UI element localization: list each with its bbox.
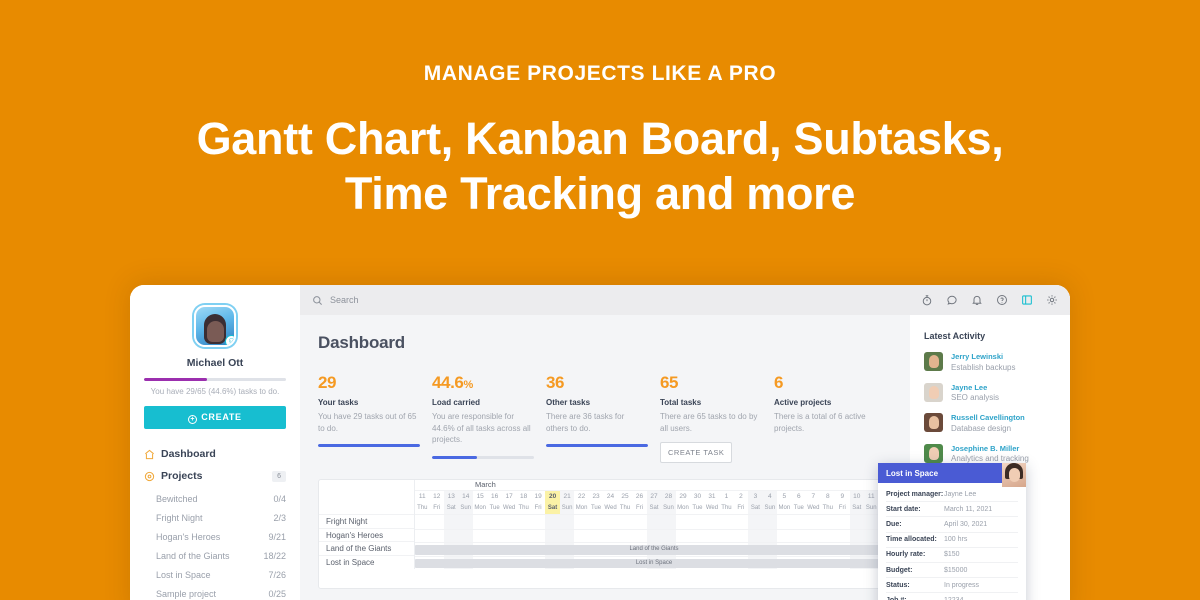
- gantt-day-number: 15: [473, 491, 487, 502]
- gantt-cell: [415, 530, 429, 543]
- stat-card-your-tasks: 29 Your tasks You have 29 tasks out of 6…: [318, 373, 432, 463]
- gantt-cell: [719, 515, 733, 529]
- gantt-row-label[interactable]: Fright Night: [319, 514, 414, 528]
- popup-header: Lost in Space: [878, 463, 1026, 483]
- gantt-cell: [603, 515, 617, 529]
- plus-icon: +: [188, 415, 197, 424]
- gantt-cell: [734, 515, 748, 529]
- center-column: Dashboard 29 Your tasks You have 29 task…: [300, 315, 910, 600]
- gantt-month-label: March: [475, 480, 496, 489]
- gantt-cell: [574, 515, 588, 529]
- gantt-cell: [632, 530, 646, 543]
- gantt-row[interactable]: [415, 529, 893, 543]
- gantt-cell: [835, 530, 849, 543]
- gantt-day-name: Sun: [864, 502, 878, 514]
- gantt-day-name: Sun: [458, 502, 472, 514]
- gantt-cell: [850, 530, 864, 543]
- gantt-cell: [473, 515, 487, 529]
- stopwatch-icon[interactable]: [921, 294, 933, 306]
- gantt-day-number: 18: [516, 491, 530, 502]
- search-input[interactable]: Search: [312, 295, 359, 306]
- project-ratio: 7/26: [268, 570, 286, 580]
- gantt-cell: [589, 515, 603, 529]
- activity-text: Russell CavellingtonDatabase design: [951, 413, 1025, 433]
- gantt-cell: [603, 530, 617, 543]
- stat-desc: There are 36 tasks for others to do.: [546, 411, 648, 434]
- gantt-day-number: 31: [705, 491, 719, 502]
- stat-label: Total tasks: [660, 398, 762, 407]
- stat-label: Active projects: [774, 398, 876, 407]
- gantt-day-number: 20: [545, 491, 559, 502]
- sidebar: ☺ Michael Ott You have 29/65 (44.6%) tas…: [130, 285, 300, 600]
- stat-number: 29: [318, 373, 336, 392]
- avatar: [924, 383, 943, 402]
- topbar: Search: [300, 285, 1070, 315]
- gantt-day-number: 7: [806, 491, 820, 502]
- gantt-cell: [734, 530, 748, 543]
- gantt-cell: [531, 530, 545, 543]
- create-task-button[interactable]: CREATE TASK: [660, 442, 732, 463]
- gantt-day-number: 28: [661, 491, 675, 502]
- stat-value: 65: [660, 373, 762, 393]
- activity-user-name[interactable]: Josephine B. Miller: [951, 444, 1029, 453]
- list-item[interactable]: Sample project0/25: [144, 584, 286, 600]
- gantt-day-number: 21: [560, 491, 574, 502]
- avatar-head: [929, 416, 939, 429]
- list-item[interactable]: Bewitched0/4: [144, 489, 286, 508]
- gantt-cell: [777, 515, 791, 529]
- create-button-label: CREATE: [201, 412, 242, 422]
- bell-icon[interactable]: [971, 294, 983, 306]
- gantt-day-name: Thu: [821, 502, 835, 514]
- gantt-cell: [458, 515, 472, 529]
- activity-user-name[interactable]: Jayne Lee: [951, 383, 999, 392]
- detail-key: Project manager:: [886, 491, 944, 498]
- gantt-cell: [821, 515, 835, 529]
- gantt-bar-rows: Land of the GiantsLost in Space: [415, 514, 893, 569]
- avatar: [924, 352, 943, 371]
- popup-detail-rows: Project manager:Jayne Lee Start date:Mar…: [878, 483, 1026, 600]
- gantt-cell: [850, 515, 864, 529]
- gantt-day-number: 1: [719, 491, 733, 502]
- tasks-progress-fill: [144, 378, 207, 381]
- gantt-day-name: Tue: [589, 502, 603, 514]
- gantt-day-name: Sat: [444, 502, 458, 514]
- activity-item[interactable]: Russell CavellingtonDatabase design: [924, 413, 1056, 433]
- project-name: Sample project: [156, 589, 216, 599]
- gantt-cell: [473, 530, 487, 543]
- avatar-face: [204, 314, 226, 344]
- stat-progress-bar: [546, 444, 648, 447]
- gantt-timeline[interactable]: March 1112131415161718192021222324252627…: [415, 480, 893, 569]
- stat-progress-fill: [546, 444, 648, 447]
- projects-count-badge: 6: [272, 471, 286, 482]
- avatar-head: [929, 386, 939, 399]
- popup-title: Lost in Space: [886, 469, 938, 478]
- table-row: Start date:March 11, 2021: [886, 502, 1018, 517]
- gantt-row[interactable]: [415, 515, 893, 529]
- detail-value: $15000: [944, 567, 967, 574]
- gantt-day-name: Wed: [502, 502, 516, 514]
- gantt-cell: [429, 515, 443, 529]
- gantt-cell: [647, 530, 661, 543]
- sidebar-nav: Dashboard Projects 6 Bewitched0/4 Fright…: [144, 443, 286, 600]
- activity-text: Josephine B. MillerAnalytics and trackin…: [951, 444, 1029, 464]
- avatar-head: [929, 355, 939, 368]
- hero-title-line-2: Time Tracking and more: [0, 167, 1200, 222]
- gantt-day-number: 30: [690, 491, 704, 502]
- gantt-cell: [647, 515, 661, 529]
- projects-icon: [144, 471, 155, 482]
- stat-value: 36: [546, 373, 648, 393]
- gantt-cell: [458, 530, 472, 543]
- project-list: Bewitched0/4 Fright Night2/3 Hogan's Her…: [144, 489, 286, 600]
- gantt-day-name: Sat: [647, 502, 661, 514]
- gantt-day-name: Fri: [429, 502, 443, 514]
- gantt-day-name: Sun: [763, 502, 777, 514]
- sidebar-item-dashboard[interactable]: Dashboard: [144, 443, 286, 465]
- gantt-row-label[interactable]: Lost in Space: [319, 555, 414, 569]
- stat-card-active-projects: 6 Active projects There is a total of 6 …: [774, 373, 888, 463]
- gantt-day-number: 10: [850, 491, 864, 502]
- gantt-day-number: 4: [763, 491, 777, 502]
- gantt-day-name: Thu: [719, 502, 733, 514]
- gantt-day-number: 11: [864, 491, 878, 502]
- gantt-cell: [748, 530, 762, 543]
- stat-card-load-carried: 44.6% Load carried You are responsible f…: [432, 373, 546, 463]
- hero-title: Gantt Chart, Kanban Board, Subtasks, Tim…: [0, 112, 1200, 222]
- gantt-cell: [531, 515, 545, 529]
- gantt-cell: [589, 530, 603, 543]
- gantt-cell: [415, 515, 429, 529]
- gantt-cell: [821, 530, 835, 543]
- stat-suffix: %: [464, 379, 473, 391]
- stat-progress-fill: [432, 456, 477, 459]
- popup-avatar: [1002, 463, 1026, 487]
- stat-number: 65: [660, 373, 678, 392]
- project-ratio: 0/4: [273, 494, 286, 504]
- tasks-progress-note: You have 29/65 (44.6%) tasks to do.: [144, 387, 286, 396]
- gantt-day-number: 11: [415, 491, 429, 502]
- activity-user-name[interactable]: Russell Cavellington: [951, 413, 1025, 422]
- stat-value: 29: [318, 373, 420, 393]
- detail-value: 100 hrs: [944, 536, 967, 543]
- table-row: Status:In progress: [886, 578, 1018, 593]
- main-area: Search Dashboard 29 Your tasks You: [300, 285, 1070, 600]
- gantt-day-number: 9: [835, 491, 849, 502]
- search-icon: [312, 295, 323, 306]
- gantt-day-name: Sat: [850, 502, 864, 514]
- gantt-day-number: 22: [574, 491, 588, 502]
- project-name: Hogan's Heroes: [156, 532, 220, 542]
- stat-progress-bar: [432, 456, 534, 459]
- gantt-day-number: 8: [821, 491, 835, 502]
- gantt-day-name: Fri: [835, 502, 849, 514]
- detail-key: Time allocated:: [886, 536, 944, 543]
- gantt-day-name: Fri: [531, 502, 545, 514]
- gantt-day-name: Fri: [734, 502, 748, 514]
- gantt-day-number: 16: [487, 491, 501, 502]
- content-area: Dashboard 29 Your tasks You have 29 task…: [300, 315, 1070, 600]
- gantt-day-number: 25: [618, 491, 632, 502]
- stat-desc: There is a total of 6 active projects.: [774, 411, 876, 434]
- stat-label: Load carried: [432, 398, 534, 407]
- gantt-day-number: 19: [531, 491, 545, 502]
- gantt-inner: Fright Night Hogan's Heroes Land of the …: [319, 480, 893, 569]
- gantt-day-number: 23: [589, 491, 603, 502]
- gantt-day-number: 17: [502, 491, 516, 502]
- tasks-progress-bar: [144, 378, 286, 381]
- stat-label: Other tasks: [546, 398, 648, 407]
- gantt-day-number: 14: [458, 491, 472, 502]
- stat-value: 44.6%: [432, 373, 534, 393]
- app-window: ☺ Michael Ott You have 29/65 (44.6%) tas…: [130, 285, 1070, 600]
- gantt-month-row: March: [415, 480, 893, 491]
- project-name: Bewitched: [156, 494, 198, 504]
- gantt-row-label[interactable]: Hogan's Heroes: [319, 528, 414, 542]
- gantt-cell: [632, 515, 646, 529]
- gantt-cell: [690, 530, 704, 543]
- gantt-day-name: Wed: [603, 502, 617, 514]
- gantt-task-bar[interactable]: Land of the Giants: [415, 545, 893, 555]
- gantt-day-name: Sun: [661, 502, 675, 514]
- gantt-chart[interactable]: Fright Night Hogan's Heroes Land of the …: [318, 479, 894, 589]
- detail-value: $150: [944, 551, 960, 558]
- detail-value: Jayne Lee: [944, 491, 976, 498]
- gantt-cell: [792, 515, 806, 529]
- activity-task-name: Database design: [951, 424, 1025, 433]
- gantt-day-name: Sat: [545, 502, 559, 514]
- gantt-row-label[interactable]: Land of the Giants: [319, 541, 414, 555]
- activity-task-name: Establish backups: [951, 363, 1015, 372]
- gantt-day-name: Mon: [473, 502, 487, 514]
- gantt-day-number: 3: [748, 491, 762, 502]
- gantt-cell: [661, 530, 675, 543]
- list-item[interactable]: Land of the Giants18/22: [144, 546, 286, 565]
- stat-desc: You have 29 tasks out of 65 to do.: [318, 411, 420, 434]
- gantt-cell: [661, 515, 675, 529]
- gantt-day-name: Wed: [806, 502, 820, 514]
- stat-value: 6: [774, 373, 876, 393]
- gantt-cell: [574, 530, 588, 543]
- stat-card-other-tasks: 36 Other tasks There are 36 tasks for ot…: [546, 373, 660, 463]
- list-item[interactable]: Lost in Space7/26: [144, 565, 286, 584]
- gantt-day-numbers: 1112131415161718192021222324252627282930…: [415, 491, 893, 502]
- gantt-cell: [719, 530, 733, 543]
- project-ratio: 0/25: [268, 589, 286, 599]
- gantt-cell: [516, 515, 530, 529]
- gantt-cell: [676, 515, 690, 529]
- gantt-cell: [806, 515, 820, 529]
- hero-kicker: MANAGE PROJECTS LIKE A PRO: [0, 62, 1200, 86]
- gantt-day-number: 26: [632, 491, 646, 502]
- gantt-day-number: 6: [792, 491, 806, 502]
- activity-title: Latest Activity: [924, 331, 1056, 341]
- detail-key: Budget:: [886, 567, 944, 574]
- gantt-day-name: Mon: [676, 502, 690, 514]
- chat-icon[interactable]: [946, 294, 958, 306]
- gantt-cell: [705, 515, 719, 529]
- detail-value: In progress: [944, 582, 979, 589]
- gantt-cell: [429, 530, 443, 543]
- stat-progress-fill: [318, 444, 420, 447]
- detail-key: Hourly rate:: [886, 551, 944, 558]
- detail-key: Due:: [886, 521, 944, 528]
- gantt-cell: [748, 515, 762, 529]
- table-row: Hourly rate:$150: [886, 548, 1018, 563]
- help-icon[interactable]: [996, 294, 1008, 306]
- stat-desc: You are responsible for 44.6% of all tas…: [432, 411, 534, 446]
- project-ratio: 18/22: [263, 551, 286, 561]
- user-name: Michael Ott: [144, 357, 286, 369]
- gantt-cell: [792, 530, 806, 543]
- list-item[interactable]: Hogan's Heroes9/21: [144, 527, 286, 546]
- search-placeholder: Search: [330, 295, 359, 305]
- project-name: Fright Night: [156, 513, 203, 523]
- gantt-day-number: 24: [603, 491, 617, 502]
- gantt-day-name: Tue: [487, 502, 501, 514]
- stats-row: 29 Your tasks You have 29 tasks out of 6…: [318, 373, 894, 463]
- gear-icon[interactable]: [1046, 294, 1058, 306]
- gantt-cell: [560, 530, 574, 543]
- gantt-cell: [705, 530, 719, 543]
- detail-key: Status:: [886, 582, 944, 589]
- gantt-day-number: 2: [734, 491, 748, 502]
- stat-number: 44.6: [432, 373, 464, 392]
- gantt-day-number: 29: [676, 491, 690, 502]
- gantt-cell: [444, 530, 458, 543]
- detail-key: Start date:: [886, 506, 944, 513]
- gantt-day-name: Thu: [516, 502, 530, 514]
- stat-label: Your tasks: [318, 398, 420, 407]
- project-detail-popup[interactable]: Lost in Space Project manager:Jayne Lee …: [878, 463, 1026, 600]
- stat-progress-bar: [318, 444, 420, 447]
- list-item[interactable]: Fright Night2/3: [144, 508, 286, 527]
- activity-text: Jayne LeeSEO analysis: [951, 383, 999, 403]
- stat-card-total-tasks: 65 Total tasks There are 65 tasks to do …: [660, 373, 774, 463]
- gantt-day-number: 13: [444, 491, 458, 502]
- gantt-cell: [763, 515, 777, 529]
- home-icon: [144, 449, 155, 460]
- create-button[interactable]: +CREATE: [144, 406, 286, 429]
- status-online-icon: ☺: [225, 335, 236, 347]
- gantt-row[interactable]: Lost in Space: [415, 556, 893, 570]
- gantt-day-name: Mon: [777, 502, 791, 514]
- gantt-cell: [763, 530, 777, 543]
- activity-text: Jerry LewinskiEstablish backups: [951, 352, 1015, 372]
- gantt-task-bar[interactable]: Lost in Space: [415, 559, 893, 569]
- gantt-cell: [806, 530, 820, 543]
- detail-value: April 30, 2021: [944, 521, 987, 528]
- gantt-cell: [502, 530, 516, 543]
- gantt-cell: [487, 515, 501, 529]
- gantt-day-name: Mon: [574, 502, 588, 514]
- gantt-day-name: Thu: [618, 502, 632, 514]
- stat-number: 6: [774, 373, 783, 392]
- gantt-row-labels: Fright Night Hogan's Heroes Land of the …: [319, 480, 415, 569]
- stat-number: 36: [546, 373, 564, 392]
- gantt-day-name: Sat: [748, 502, 762, 514]
- gantt-day-names: ThuFriSatSunMonTueWedThuFriSatSunMonTueW…: [415, 502, 893, 514]
- gantt-cell: [864, 515, 878, 529]
- hero-title-line-1: Gantt Chart, Kanban Board, Subtasks,: [0, 112, 1200, 167]
- project-name: Lost in Space: [156, 570, 211, 580]
- activity-item[interactable]: Jerry LewinskiEstablish backups: [924, 352, 1056, 372]
- activity-item[interactable]: Josephine B. MillerAnalytics and trackin…: [924, 444, 1056, 464]
- gantt-day-name: Fri: [632, 502, 646, 514]
- avatar-head: [929, 447, 939, 460]
- sidebar-item-projects-label: Projects: [161, 470, 202, 482]
- gantt-cell: [502, 515, 516, 529]
- project-ratio: 2/3: [273, 513, 286, 523]
- gantt-row[interactable]: Land of the Giants: [415, 542, 893, 556]
- avatar[interactable]: ☺: [194, 305, 236, 347]
- user-avatar-wrap: ☺: [144, 305, 286, 347]
- avatar-face: [1009, 468, 1020, 482]
- activity-user-name[interactable]: Jerry Lewinski: [951, 352, 1015, 361]
- project-name: Land of the Giants: [156, 551, 230, 561]
- avatar: [924, 444, 943, 463]
- gantt-cell: [835, 515, 849, 529]
- table-row: Due:April 30, 2021: [886, 517, 1018, 532]
- activity-task-name: Analytics and tracking: [951, 454, 1029, 463]
- gantt-day-number: 12: [429, 491, 443, 502]
- gantt-cell: [676, 530, 690, 543]
- sidebar-item-projects[interactable]: Projects 6: [144, 465, 286, 487]
- topbar-icons: [921, 294, 1058, 306]
- hero-section: MANAGE PROJECTS LIKE A PRO Gantt Chart, …: [0, 0, 1200, 222]
- project-ratio: 9/21: [268, 532, 286, 542]
- page-title: Dashboard: [318, 333, 894, 353]
- gantt-cell: [618, 515, 632, 529]
- gantt-cell: [690, 515, 704, 529]
- gantt-cell: [560, 515, 574, 529]
- gantt-cell: [545, 530, 559, 543]
- gantt-day-name: Tue: [792, 502, 806, 514]
- gantt-label-spacer: [319, 480, 414, 514]
- table-row: Budget:$15000: [886, 563, 1018, 578]
- gantt-cell: [487, 530, 501, 543]
- table-row: Job #:12234: [886, 593, 1018, 600]
- table-row: Project manager:Jayne Lee: [886, 487, 1018, 502]
- activity-item[interactable]: Jayne LeeSEO analysis: [924, 383, 1056, 403]
- activity-task-name: SEO analysis: [951, 393, 999, 402]
- table-row: Time allocated:100 hrs: [886, 533, 1018, 548]
- stat-desc: There are 65 tasks to do by all users.: [660, 411, 762, 434]
- gantt-day-name: Sun: [560, 502, 574, 514]
- gantt-day-name: Thu: [415, 502, 429, 514]
- gantt-cell: [864, 530, 878, 543]
- detail-value: March 11, 2021: [944, 506, 992, 513]
- gantt-cell: [618, 530, 632, 543]
- gantt-cell: [777, 530, 791, 543]
- sidebar-item-dashboard-label: Dashboard: [161, 448, 216, 460]
- gantt-cell: [444, 515, 458, 529]
- gantt-cell: [545, 515, 559, 529]
- gantt-day-name: Tue: [690, 502, 704, 514]
- gantt-day-number: 27: [647, 491, 661, 502]
- gantt-day-name: Wed: [705, 502, 719, 514]
- gantt-day-number: 5: [777, 491, 791, 502]
- panel-toggle-icon[interactable]: [1021, 294, 1033, 306]
- avatar: [924, 413, 943, 432]
- gantt-cell: [516, 530, 530, 543]
